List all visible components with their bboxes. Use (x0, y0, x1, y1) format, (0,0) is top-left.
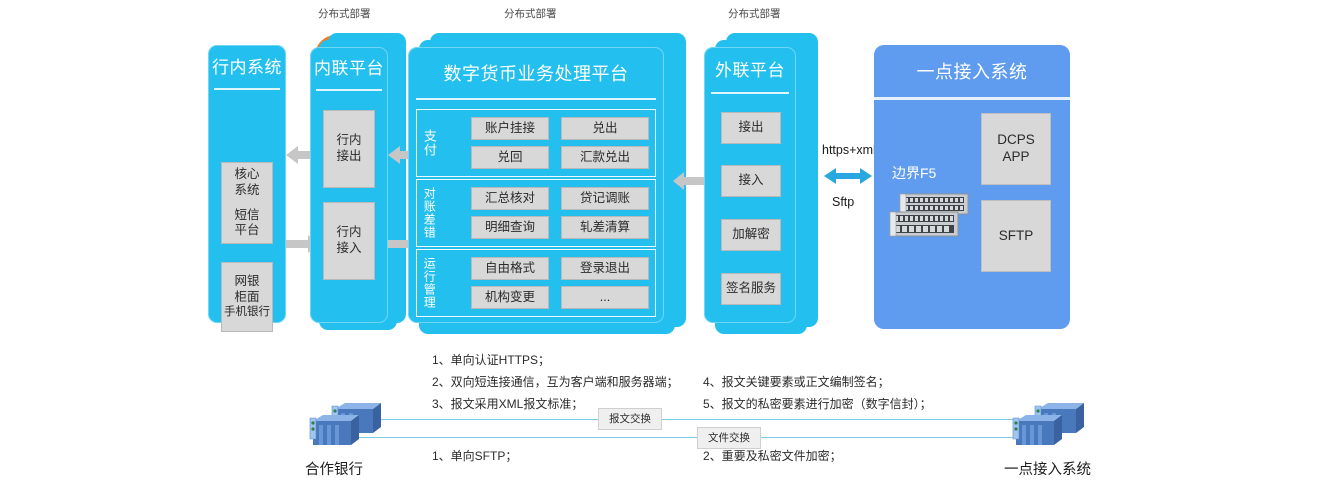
chip-signature-service[interactable]: 签名服务 (721, 273, 781, 305)
chip-exchange-out[interactable]: 兑出 (561, 117, 649, 140)
group-reconciliation-label: 对账差错 (421, 180, 437, 246)
architecture-diagram: 分布式部署 分布式部署 分布式部署 行内系统 核心 系统 短信 平台 网银 柜面… (0, 0, 1333, 483)
panel-dcep-title: 数字货币业务处理平台 (408, 65, 664, 83)
group-reconciliation: 对账差错 汇总核对 贷记调账 明细查询 轧差清算 (416, 179, 656, 247)
panel-external-platform: 外联平台 接出 接入 加解密 签名服务 (704, 47, 796, 323)
group-label-text: 对账差错 (423, 187, 436, 239)
chip-exchange-back[interactable]: 兑回 (471, 146, 549, 169)
message-exchange-line (350, 419, 1050, 420)
f5-boundary-label: 边界F5 (892, 163, 936, 183)
group-payment-label: 支付 (421, 110, 437, 176)
panel-intra-system-title: 行内系统 (208, 59, 286, 76)
chip-login-logout[interactable]: 登录退出 (561, 257, 649, 280)
chip-line: DCPS (997, 132, 1035, 149)
divider (874, 97, 1070, 100)
chip-ext-inbound[interactable]: 接入 (721, 165, 781, 197)
chip-free-format[interactable]: 自由格式 (471, 257, 549, 280)
chip-account-link[interactable]: 账户挂接 (471, 117, 549, 140)
divider (316, 89, 382, 91)
chip-line: 行内 (336, 133, 361, 149)
f5-switch-stack-icon (886, 190, 972, 242)
protocol-label-sftp: Sftp (832, 195, 854, 209)
chip-org-change[interactable]: 机构变更 (471, 286, 549, 309)
message-note-4: 4、报文关键要素或正文编制签名； (703, 372, 890, 392)
panel-dcep: 数字货币业务处理平台 支付 账户挂接 兑出 兑回 汇款兑出 对账差错 汇总核对 … (408, 47, 664, 323)
chip-line: APP (1002, 149, 1029, 166)
message-note-5: 5、报文的私密要素进行加密（数字信封）； (703, 394, 932, 414)
message-note-3: 3、报文采用XML报文标准； (432, 394, 583, 414)
panel-intranet-platform: 内联平台 行内 接出 行内 接入 (310, 47, 388, 323)
panel-intra-system: 行内系统 核心 系统 短信 平台 网银 柜面 手机银行 (208, 45, 286, 323)
chip-dcps-app[interactable]: DCPS APP (981, 113, 1051, 185)
node-label-partner-bank: 合作银行 (305, 458, 363, 479)
group-operations: 运行管理 自由格式 登录退出 机构变更 ... (416, 249, 656, 317)
chip-line: 平台 (234, 223, 259, 239)
message-note-1: 1、单向认证HTTPS； (432, 350, 550, 370)
chip-ext-outbound[interactable]: 接出 (721, 112, 781, 144)
chip-summary-check[interactable]: 汇总核对 (471, 187, 549, 210)
group-label-text: 运行管理 (423, 257, 436, 309)
panel-intranet-platform-title: 内联平台 (310, 60, 388, 77)
chip-netting-settlement[interactable]: 轧差清算 (561, 216, 649, 239)
deploy-caption-external: 分布式部署 (728, 6, 781, 21)
server-stack-icon-one-point-system (1008, 403, 1084, 453)
chip-line: 接入 (336, 241, 361, 257)
chip-encrypt-decrypt[interactable]: 加解密 (721, 219, 781, 251)
file-note-2: 2、重要及私密文件加密； (703, 446, 842, 466)
divider (711, 92, 789, 94)
node-label-one-point-system: 一点接入系统 (1004, 458, 1091, 479)
chip-line: 接出 (336, 149, 361, 165)
panel-one-point-system: 一点接入系统 边界F5 (874, 45, 1070, 329)
chip-line: 核心 (234, 167, 259, 183)
deploy-caption-dcep: 分布式部署 (504, 6, 557, 21)
group-operations-label: 运行管理 (421, 250, 437, 316)
chip-remit-exchange-out[interactable]: 汇款兑出 (561, 146, 649, 169)
chip-more[interactable]: ... (561, 286, 649, 309)
panel-one-point-system-title: 一点接入系统 (874, 63, 1070, 81)
chip-online-banking[interactable]: 网银 柜面 手机银行 (221, 262, 273, 332)
chip-intra-inbound[interactable]: 行内 接入 (323, 202, 375, 280)
group-label-text: 支付 (422, 129, 436, 157)
chip-line: 手机银行 (224, 305, 270, 319)
chip-line: 短信 (234, 208, 259, 224)
server-stack-icon-partner-bank (305, 403, 381, 453)
deploy-caption-intranet: 分布式部署 (318, 6, 371, 21)
chip-line: 柜面 (234, 290, 259, 306)
divider (416, 98, 656, 100)
chip-core-system[interactable]: 核心 系统 短信 平台 (221, 162, 273, 244)
protocol-label-https-xml: https+xml (822, 143, 876, 157)
chip-detail-query[interactable]: 明细查询 (471, 216, 549, 239)
chip-line: 行内 (336, 225, 361, 241)
file-note-1: 1、单向SFTP； (432, 446, 517, 466)
divider (214, 88, 280, 90)
chip-credit-adjust[interactable]: 贷记调账 (561, 187, 649, 210)
protocol-arrow-bidirectional-icon (824, 167, 872, 185)
exchange-tag-message: 报文交换 (598, 408, 662, 430)
panel-external-platform-title: 外联平台 (704, 62, 796, 79)
chip-line: 系统 (234, 183, 259, 199)
chip-intra-outbound[interactable]: 行内 接出 (323, 110, 375, 188)
group-payment: 支付 账户挂接 兑出 兑回 汇款兑出 (416, 109, 656, 177)
chip-line: 网银 (234, 274, 259, 290)
message-note-2: 2、双向短连接通信，互为客户端和服务器端； (432, 372, 679, 392)
chip-sftp[interactable]: SFTP (981, 200, 1051, 272)
